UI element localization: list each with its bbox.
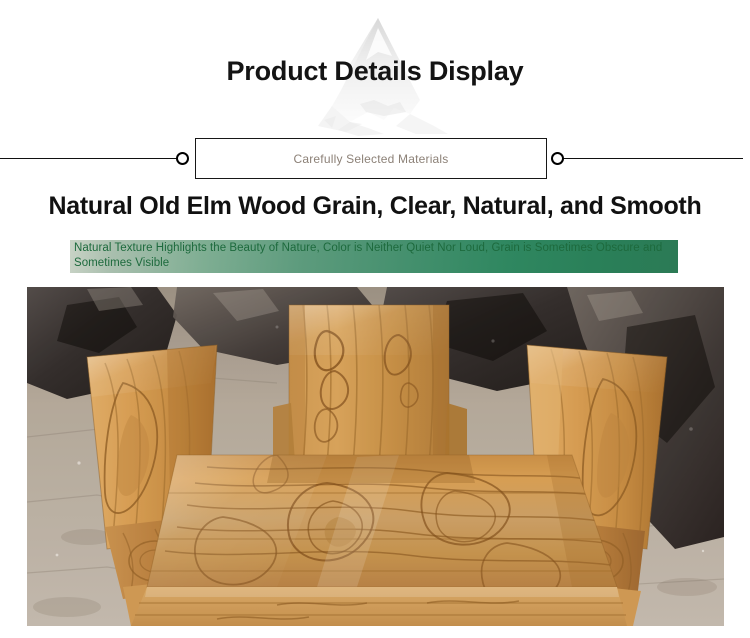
product-detail-page: Product Details Display Carefully Select…: [0, 0, 750, 638]
feature-banner-text: Natural Texture Highlights the Beauty of…: [74, 241, 710, 271]
divider-rule-right: [563, 158, 743, 159]
divider-rule-left: [0, 158, 178, 159]
product-photo: [27, 287, 724, 626]
page-title: Product Details Display: [0, 56, 750, 87]
circle-node-icon-right: [551, 152, 564, 165]
section-headline: Natural Old Elm Wood Grain, Clear, Natur…: [0, 192, 750, 221]
circle-node-icon-left: [176, 152, 189, 165]
header-block: Product Details Display: [0, 0, 750, 140]
feature-banner: Natural Texture Highlights the Beauty of…: [70, 240, 678, 273]
subtitle-label: Carefully Selected Materials: [294, 152, 449, 166]
subtitle-box: Carefully Selected Materials: [195, 138, 547, 179]
